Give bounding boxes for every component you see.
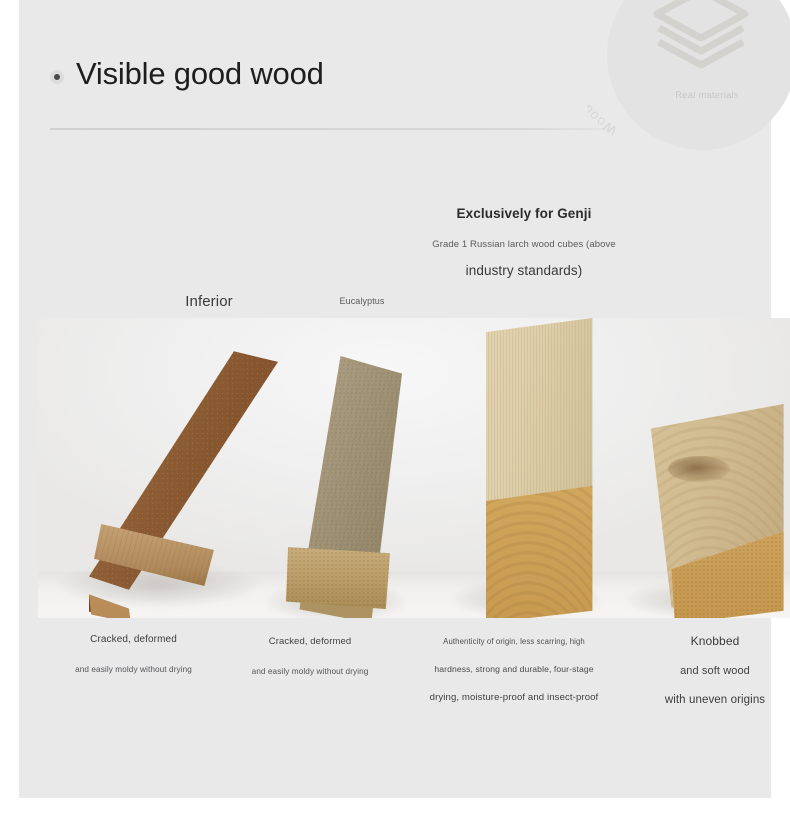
russian-larch-wood-plank [458, 318, 598, 618]
svg-text:Wood is for all...: Wood is for all... [587, 29, 619, 138]
caption2-line1: Cracked, deformed [224, 636, 396, 647]
page-header: Visible good wood [50, 55, 650, 92]
center-heading-line3: industry standards) [374, 263, 674, 278]
badge-arc-label: Wood is for all... [587, 29, 619, 138]
center-heading: Exclusively for Genji Grade 1 Russian la… [374, 206, 674, 278]
caption3-line3: drying, moisture-proof and insect-proof [423, 692, 605, 703]
caption1-line2: and easily moldy without drying [46, 665, 221, 674]
caption3-line2: hardness, strong and durable, four-stage [423, 664, 605, 674]
title-row: Visible good wood [50, 55, 650, 92]
dot-bullet-icon [50, 70, 64, 84]
caption-column3: Authenticity of origin, less scarring, h… [423, 637, 605, 703]
brand-badge: Wood is for all... Real materials [587, 0, 787, 160]
caption-column2: Cracked, deformed and easily moldy witho… [224, 636, 396, 676]
inferior-miscellaneous-wood-plank [68, 338, 278, 618]
caption2-line2: and easily moldy without drying [224, 667, 396, 676]
center-heading-line1: Exclusively for Genji [374, 206, 674, 221]
caption4-line1: Knobbed [627, 634, 790, 648]
header-divider [50, 128, 610, 130]
wood-comparison-photo [38, 318, 790, 618]
page-root: Visible good wood Wood is for all... Rea [0, 0, 790, 814]
content-panel: Visible good wood Wood is for all... Rea [19, 0, 771, 798]
local-pine-wood-plank [630, 404, 790, 618]
caption4-line3: with uneven origins [627, 694, 790, 706]
caption4-line2: and soft wood [627, 665, 790, 677]
column2-label-top: Eucalyptus [271, 296, 453, 306]
page-title: Visible good wood [76, 55, 324, 92]
caption1-line1: Cracked, deformed [46, 634, 221, 645]
caption3-line1: Authenticity of origin, less scarring, h… [423, 637, 605, 646]
eucalyptus-wood-plank [274, 351, 402, 618]
badge-caption: Real materials [637, 90, 777, 101]
plank4-knot [668, 456, 730, 482]
plank2-end-block [286, 547, 390, 609]
caption-column4: Knobbed and soft wood with uneven origin… [627, 634, 790, 706]
stacked-layers-icon [649, 0, 753, 76]
center-heading-line2: Grade 1 Russian larch wood cubes (above [374, 239, 674, 250]
caption-column1: Cracked, deformed and easily moldy witho… [46, 634, 221, 674]
